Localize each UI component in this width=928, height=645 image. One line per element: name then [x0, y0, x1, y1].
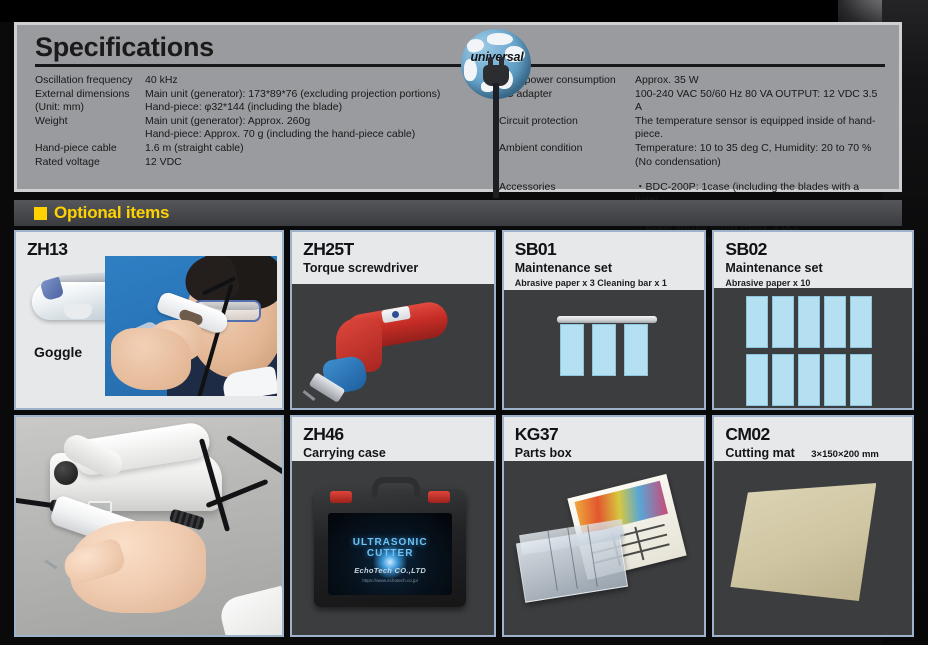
spec-label: Circuit protection [499, 115, 635, 142]
card-dimensions: 3×150×200 mm [811, 449, 879, 460]
card-sb02[interactable]: SB02 Maintenance set Abrasive paper x 10 [712, 230, 914, 410]
sb02-product-image [714, 288, 912, 408]
spec-value: 100-240 VAC 50/60 Hz 80 VA OUTPUT: 12 VD… [635, 88, 885, 115]
card-zh13[interactable]: ZH13 [14, 230, 284, 410]
spec-label: Oscillation frequency [35, 74, 145, 88]
spec-label: Ambient condition [499, 142, 635, 156]
spec-label: (Unit: mm) [35, 101, 145, 115]
top-dark-strip [0, 0, 838, 22]
title-rule [35, 64, 885, 67]
spec-row: Oscillation frequency 40 kHz [35, 74, 487, 88]
zh13-usage-photo [105, 256, 277, 396]
spec-value: Hand-piece: φ32*144 (including the blade… [145, 101, 487, 115]
zh13-illustration: Goggle [16, 232, 282, 408]
kg37-product-image [504, 461, 705, 635]
spec-row: Hand-piece cable 1.6 m (straight cable) [35, 142, 487, 156]
cutting-mat-shape [730, 483, 876, 601]
zh46-product-image: ULTRASONIC CUTTER EchoTech CO.,LTD https… [292, 461, 494, 635]
spec-value: Temperature: 10 to 35 deg C, Humidity: 2… [635, 142, 885, 156]
optional-items-header: Optional items [14, 200, 902, 226]
spec-row: Max. power consumption Approx. 35 W [499, 74, 885, 88]
optional-items-grid: ZH13 [14, 230, 914, 637]
card-zh25t[interactable]: ZH25T Torque screwdriver [290, 230, 496, 410]
card-code: SB02 [725, 239, 903, 259]
card-row: ZH13 [14, 230, 914, 410]
zh25t-product-image [292, 284, 494, 408]
card-caption: Goggle [34, 344, 82, 360]
specifications-panel: Specifications Oscillation frequency 40 … [14, 22, 902, 192]
spec-value: The temperature sensor is equipped insid… [635, 115, 885, 142]
spec-row: AC adapter 100-240 VAC 50/60 Hz 80 VA OU… [499, 88, 885, 115]
spec-value-continued: Hand-piece: Approx. 70 g (including the … [35, 128, 487, 142]
spec-row: Ambient condition Temperature: 10 to 35 … [499, 142, 885, 156]
case-brand-text: EchoTech CO.,LTD [328, 566, 452, 575]
case-url-text: https://www.echotech.co.jp/ [328, 578, 452, 583]
spec-row: Circuit protection The temperature senso… [499, 115, 885, 142]
spec-label: Max. power consumption [499, 74, 635, 88]
card-name: Parts box [515, 446, 572, 461]
card-cm02[interactable]: CM02 Cutting mat 3×150×200 mm [712, 415, 914, 637]
spec-value: Main unit (generator): Approx. 260g [145, 115, 487, 129]
card-code: ZH46 [303, 424, 485, 444]
card-name: Maintenance set [515, 261, 612, 276]
spec-label: Rated voltage [35, 156, 145, 170]
card-name: Torque screwdriver [303, 261, 418, 276]
spec-label: Hand-piece cable [35, 142, 145, 156]
spec-label: Weight [35, 115, 145, 129]
card-name: Maintenance set [725, 261, 822, 276]
card-code: ZH25T [303, 239, 485, 259]
card-subtitle: Abrasive paper x 3 Cleaning bar x 1 [515, 277, 696, 289]
spec-row: External dimensions Main unit (generator… [35, 88, 487, 102]
case-title-text: ULTRASONIC CUTTER [328, 537, 452, 559]
card-name: Cutting mat [725, 446, 794, 461]
spec-value: Approx. 35 W [635, 74, 885, 88]
optional-items-label: Optional items [54, 203, 169, 223]
cm02-product-image [714, 461, 912, 635]
spec-value: 1.6 m (straight cable) [145, 142, 487, 156]
page-title: Specifications [35, 31, 885, 63]
card-zh46[interactable]: ZH46 Carrying case ULTRASONIC CUTTER Ech… [290, 415, 496, 637]
square-bullet-icon [34, 207, 47, 220]
spec-label: AC adapter [499, 88, 635, 115]
card-code: SB01 [515, 239, 696, 259]
card-name: Carrying case [303, 446, 386, 461]
card-sb01[interactable]: SB01 Maintenance set Abrasive paper x 3 … [502, 230, 707, 410]
card-row: ZH46 Carrying case ULTRASONIC CUTTER Ech… [14, 415, 914, 637]
card-code: CM02 [725, 424, 903, 444]
spec-value: 12 VDC [145, 156, 487, 170]
card-kg37[interactable]: KG37 Parts box [502, 415, 707, 637]
spec-row: Weight Main unit (generator): Approx. 26… [35, 115, 487, 129]
ultrasonic-cutter-photo [16, 417, 282, 635]
sb01-product-image [504, 290, 705, 408]
card-product-photo[interactable] [14, 415, 284, 637]
spec-row: (Unit: mm) Hand-piece: φ32*144 (includin… [35, 101, 487, 115]
spec-row: Rated voltage 12 VDC [35, 156, 487, 170]
spec-value: 40 kHz [145, 74, 487, 88]
spec-label: External dimensions [35, 88, 145, 102]
spec-value: Main unit (generator): 173*89*76 (exclud… [145, 88, 487, 102]
card-code: KG37 [515, 424, 696, 444]
spec-value-continued: (No condensation) [499, 156, 885, 170]
